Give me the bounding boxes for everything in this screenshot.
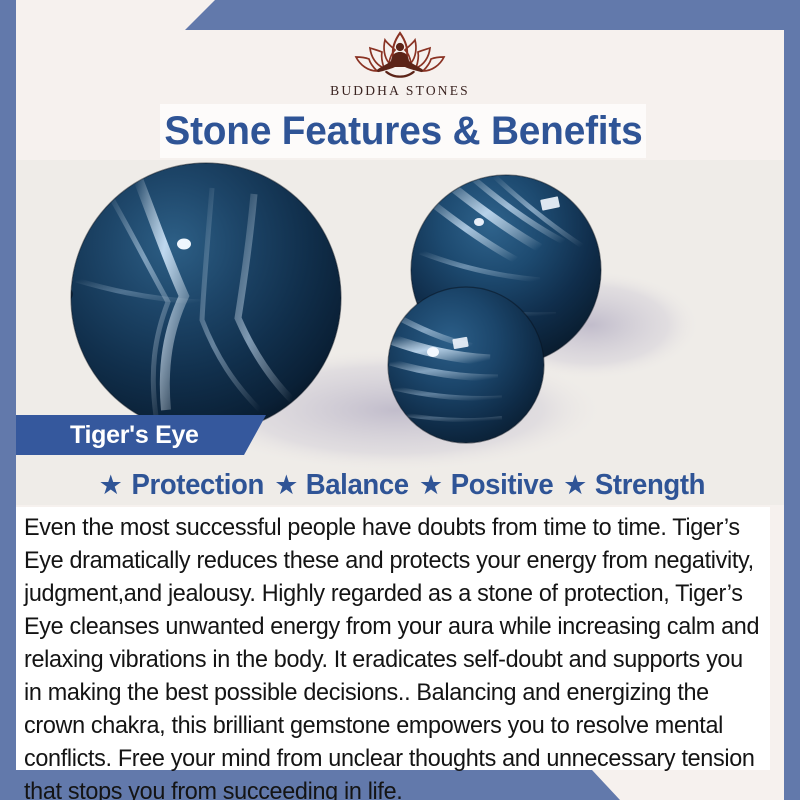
title-band: Stone Features & Benefits bbox=[160, 104, 646, 158]
benefit-item-positive: ★ Positive bbox=[412, 469, 556, 502]
stone-name-tag: Tiger's Eye bbox=[16, 415, 266, 455]
benefit-item-strength: ★ Strength bbox=[556, 469, 708, 502]
stone-name-label: Tiger's Eye bbox=[70, 421, 199, 450]
star-icon: ★ bbox=[563, 472, 587, 499]
description-text: Even the most successful people have dou… bbox=[24, 511, 759, 800]
benefits-row: ★ Protection ★ Balance ★ Positive ★ Stre… bbox=[16, 463, 784, 507]
frame-left-band bbox=[0, 0, 16, 800]
star-icon: ★ bbox=[274, 472, 298, 499]
benefit-label: Positive bbox=[451, 469, 554, 502]
star-icon: ★ bbox=[419, 472, 443, 499]
page-title: Stone Features & Benefits bbox=[164, 109, 642, 154]
benefit-label: Strength bbox=[595, 469, 705, 502]
frame-right-band bbox=[784, 0, 800, 800]
description-panel: Even the most successful people have dou… bbox=[16, 507, 770, 770]
poster-root: BUDDHA STONES Stone Features & Benefits bbox=[0, 0, 800, 800]
star-icon: ★ bbox=[99, 472, 123, 499]
brand-logo: BUDDHA STONES bbox=[300, 26, 500, 104]
benefit-label: Protection bbox=[131, 469, 263, 502]
benefit-label: Balance bbox=[306, 469, 409, 502]
benefit-item-protection: ★ Protection bbox=[92, 469, 268, 502]
brand-header: BUDDHA STONES bbox=[16, 30, 784, 102]
brand-name: BUDDHA STONES bbox=[330, 83, 470, 99]
lotus-meditation-icon bbox=[325, 26, 475, 84]
benefit-item-balance: ★ Balance bbox=[267, 469, 412, 502]
